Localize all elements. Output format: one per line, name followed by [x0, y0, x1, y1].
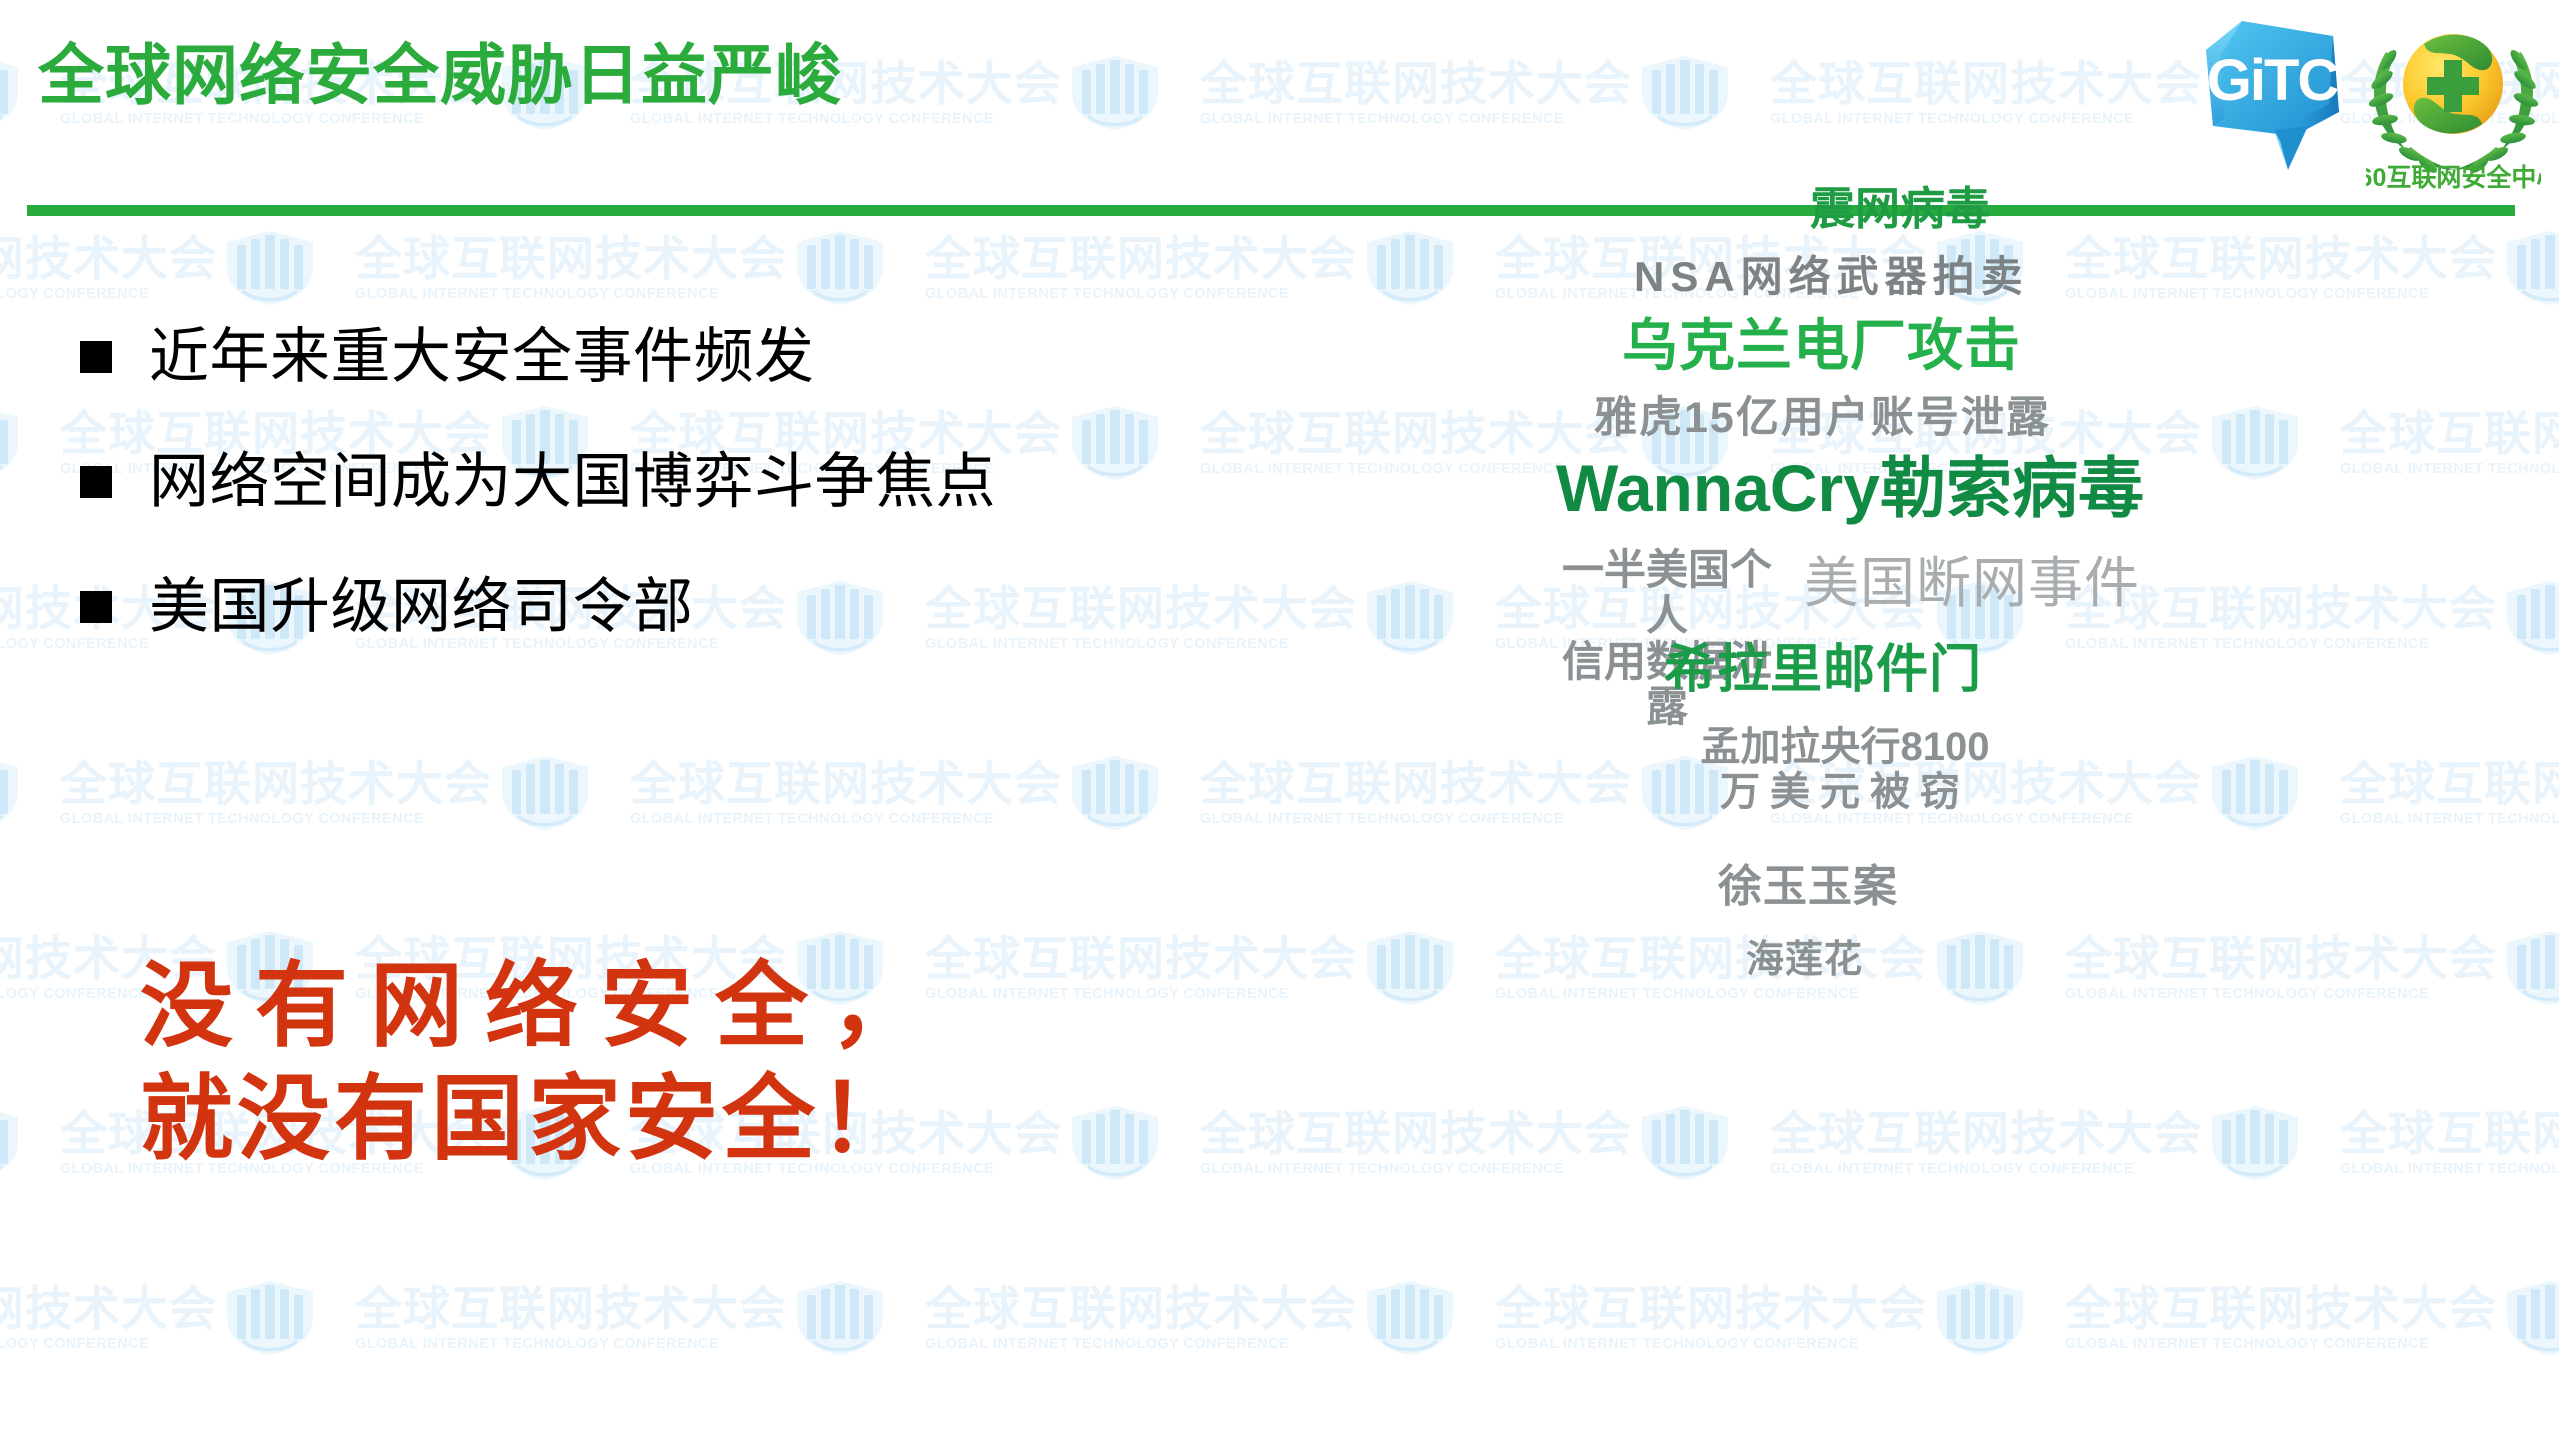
gitc-shield-watermark — [1072, 406, 1158, 480]
word-cloud-item-hillary-email: 希拉里邮件门 — [1664, 642, 1982, 698]
word-cloud-item-bangladesh-bank: 孟加拉央行8100 万美元被窃 — [1698, 725, 1992, 815]
slogan-line-2: 就没有国家安全！ — [140, 1063, 945, 1176]
page-title: 全球网络安全威胁日益严峻 — [38, 22, 842, 118]
watermark-tile: 全球互联网技术大会 GLOBAL INTERNET TECHNOLOGY CON… — [925, 935, 1485, 1055]
bullet-label: 近年来重大安全事件频发 — [149, 325, 815, 388]
watermark-cn: 全球互联网技术大会 — [60, 760, 492, 807]
watermark-tile: 全球互联网技术大会 GLOBAL INTERNET TECHNOLOGY CON… — [0, 760, 50, 880]
bullet-label: 美国升级网络司令部 — [149, 575, 694, 638]
list-item: 网络空间成为大国博弈斗争焦点 — [80, 450, 1080, 513]
gitc-shield-watermark — [797, 231, 883, 305]
slogan-line-1: 没有网络安全， — [140, 950, 945, 1063]
watermark-en: GLOBAL INTERNET TECHNOLOGY CONFERENCE — [355, 1337, 787, 1352]
word-cloud-item-ukraine-plant: 乌克兰电厂攻击 — [1622, 316, 2021, 376]
watermark-text: 全球互联网技术大会 GLOBAL INTERNET TECHNOLOGY CON… — [925, 935, 1357, 1002]
incident-word-cloud: 震网病毒 NSA网络武器拍卖 乌克兰电厂攻击 雅虎15亿用户账号泄露 Wanna… — [1420, 170, 2540, 1400]
gitc-shield-watermark — [0, 1106, 18, 1180]
watermark-en: GLOBAL INTERNET TECHNOLOGY CONFERENCE — [925, 287, 1357, 302]
watermark-en: GLOBAL INTERNET TECHNOLOGY CONFERENCE — [60, 812, 492, 827]
gitc-logo: GiTC GiTC — [2196, 8, 2348, 178]
360-logo-caption: 360互联网安全中心 — [2366, 163, 2541, 192]
watermark-en: GLOBAL INTERNET TECHNOLOGY CONFERENCE — [925, 987, 1357, 1002]
watermark-cn: 全球互联网技术大会 — [1770, 60, 2202, 107]
watermark-en: GLOBAL INTERNET TECHNOLOGY CONFERENCE — [355, 287, 787, 302]
watermark-text: 全球互联网技术大会 GLOBAL INTERNET TECHNOLOGY CON… — [630, 760, 1062, 827]
watermark-tile: 全球互联网技术大会 GLOBAL INTERNET TECHNOLOGY CON… — [925, 1285, 1485, 1405]
watermark-cn: 全球互联网技术大会 — [925, 935, 1357, 982]
gitc-shield-watermark — [227, 1281, 313, 1355]
list-item: 近年来重大安全事件频发 — [80, 325, 1080, 388]
gitc-logo-text: GiTC — [2207, 48, 2339, 113]
word-cloud-item-bangladesh-bank-line1: 孟加拉央行8100 — [1701, 725, 1990, 769]
watermark-en: GLOBAL INTERNET TECHNOLOGY CONFERENCE — [0, 1337, 217, 1352]
watermark-text: 全球互联网技术大会 GLOBAL INTERNET TECHNOLOGY CON… — [0, 1285, 217, 1352]
watermark-tile: 全球互联网技术大会 GLOBAL INTERNET TECHNOLOGY CON… — [355, 1285, 915, 1405]
watermark-cn: 全球互联网技术大会 — [355, 1285, 787, 1332]
word-cloud-item-yahoo-breach: 雅虎15亿用户账号泄露 — [1594, 395, 2051, 441]
list-item: 美国升级网络司令部 — [80, 575, 1080, 638]
watermark-tile: 全球互联网技术大会 GLOBAL INTERNET TECHNOLOGY CON… — [355, 0, 915, 5]
gitc-shield-watermark — [1072, 56, 1158, 130]
360-internet-security-center-logo: 360互联网安全中心 360互联网安全中心 — [2366, 8, 2541, 193]
watermark-cn: 全球互联网技术大会 — [0, 1285, 217, 1332]
gitc-shield-watermark — [797, 1281, 883, 1355]
watermark-text: 全球互联网技术大会 GLOBAL INTERNET TECHNOLOGY CON… — [925, 1285, 1357, 1352]
watermark-en: GLOBAL INTERNET TECHNOLOGY CONFERENCE — [0, 287, 217, 302]
watermark-tile: 全球互联网技术大会 GLOBAL INTERNET TECHNOLOGY CON… — [0, 1285, 345, 1405]
watermark-en: GLOBAL INTERNET TECHNOLOGY CONFERENCE — [630, 812, 1062, 827]
word-cloud-item-us-credit-leak: 一半美国个人 信用数据泄露 — [1542, 547, 1792, 730]
watermark-tile: 全球互联网技术大会 GLOBAL INTERNET TECHNOLOGY CON… — [1200, 60, 1760, 180]
watermark-text: 全球互联网技术大会 GLOBAL INTERNET TECHNOLOGY CON… — [0, 235, 217, 302]
watermark-tile: 全球互联网技术大会 GLOBAL INTERNET TECHNOLOGY CON… — [0, 410, 50, 530]
gitc-shield-watermark — [227, 231, 313, 305]
watermark-tile: 全球互联网技术大会 GLOBAL INTERNET TECHNOLOGY CON… — [0, 0, 345, 5]
slogan-block: 没有网络安全， 就没有国家安全！ — [140, 950, 945, 1177]
watermark-en: GLOBAL INTERNET TECHNOLOGY CONFERENCE — [1770, 112, 2202, 127]
watermark-cn: 全球互联网技术大会 — [0, 235, 217, 282]
word-cloud-item-bangladesh-bank-line2: 万美元被窃 — [1698, 770, 1992, 815]
watermark-text: 全球互联网技术大会 GLOBAL INTERNET TECHNOLOGY CON… — [60, 760, 492, 827]
bullet-label: 网络空间成为大国博弈斗争焦点 — [149, 450, 996, 513]
watermark-text: 全球互联网技术大会 GLOBAL INTERNET TECHNOLOGY CON… — [925, 235, 1357, 302]
gitc-shield-watermark — [1642, 56, 1728, 130]
word-cloud-item-zhenwang: 震网病毒 — [1810, 185, 1990, 234]
word-cloud-item-xuyuyu-case: 徐玉玉案 — [1718, 863, 1898, 911]
watermark-cn: 全球互联网技术大会 — [925, 1285, 1357, 1332]
watermark-cn: 全球互联网技术大会 — [925, 235, 1357, 282]
watermark-text: 全球互联网技术大会 GLOBAL INTERNET TECHNOLOGY CON… — [355, 235, 787, 302]
bullet-list: 近年来重大安全事件频发 网络空间成为大国博弈斗争焦点 美国升级网络司令部 — [80, 325, 1080, 638]
watermark-cn: 全球互联网技术大会 — [1200, 60, 1632, 107]
watermark-tile: 全球互联网技术大会 GLOBAL INTERNET TECHNOLOGY CON… — [2065, 0, 2559, 5]
gitc-shield-watermark — [1072, 756, 1158, 830]
gitc-shield-watermark — [502, 756, 588, 830]
watermark-en: GLOBAL INTERNET TECHNOLOGY CONFERENCE — [925, 637, 1357, 652]
gitc-shield-watermark — [1072, 1106, 1158, 1180]
watermark-tile: 全球互联网技术大会 GLOBAL INTERNET TECHNOLOGY CON… — [925, 0, 1485, 5]
word-cloud-item-us-credit-leak-line1: 一半美国个人 — [1562, 546, 1772, 639]
slide-canvas: 全球互联网技术大会 GLOBAL INTERNET TECHNOLOGY CON… — [0, 0, 2559, 1439]
gitc-shield-watermark — [0, 756, 18, 830]
square-bullet-icon — [80, 591, 112, 623]
word-cloud-item-oceanlotus: 海莲花 — [1746, 940, 1863, 981]
watermark-cn: 全球互联网技术大会 — [355, 235, 787, 282]
watermark-text: 全球互联网技术大会 GLOBAL INTERNET TECHNOLOGY CON… — [1770, 60, 2202, 127]
gitc-shield-watermark — [0, 406, 18, 480]
watermark-tile: 全球互联网技术大会 GLOBAL INTERNET TECHNOLOGY CON… — [0, 1110, 50, 1230]
watermark-en: GLOBAL INTERNET TECHNOLOGY CONFERENCE — [1200, 112, 1632, 127]
watermark-text: 全球互联网技术大会 GLOBAL INTERNET TECHNOLOGY CON… — [1200, 60, 1632, 127]
word-cloud-item-us-outage: 美国断网事件 — [1804, 554, 2140, 613]
gitc-shield-watermark — [0, 56, 18, 130]
square-bullet-icon — [80, 466, 112, 498]
watermark-tile: 全球互联网技术大会 GLOBAL INTERNET TECHNOLOGY CON… — [1495, 0, 2055, 5]
square-bullet-icon — [80, 341, 112, 373]
word-cloud-item-wannacry: WannaCry勒索病毒 — [1556, 453, 2144, 524]
watermark-tile: 全球互联网技术大会 GLOBAL INTERNET TECHNOLOGY CON… — [60, 760, 620, 880]
logo-group: GiTC GiTC — [2196, 8, 2541, 193]
watermark-text: 全球互联网技术大会 GLOBAL INTERNET TECHNOLOGY CON… — [355, 1285, 787, 1352]
watermark-tile: 全球互联网技术大会 GLOBAL INTERNET TECHNOLOGY CON… — [630, 760, 1190, 880]
word-cloud-item-nsa-auction: NSA网络武器拍卖 — [1634, 254, 2029, 299]
watermark-cn: 全球互联网技术大会 — [630, 760, 1062, 807]
watermark-en: GLOBAL INTERNET TECHNOLOGY CONFERENCE — [925, 1337, 1357, 1352]
